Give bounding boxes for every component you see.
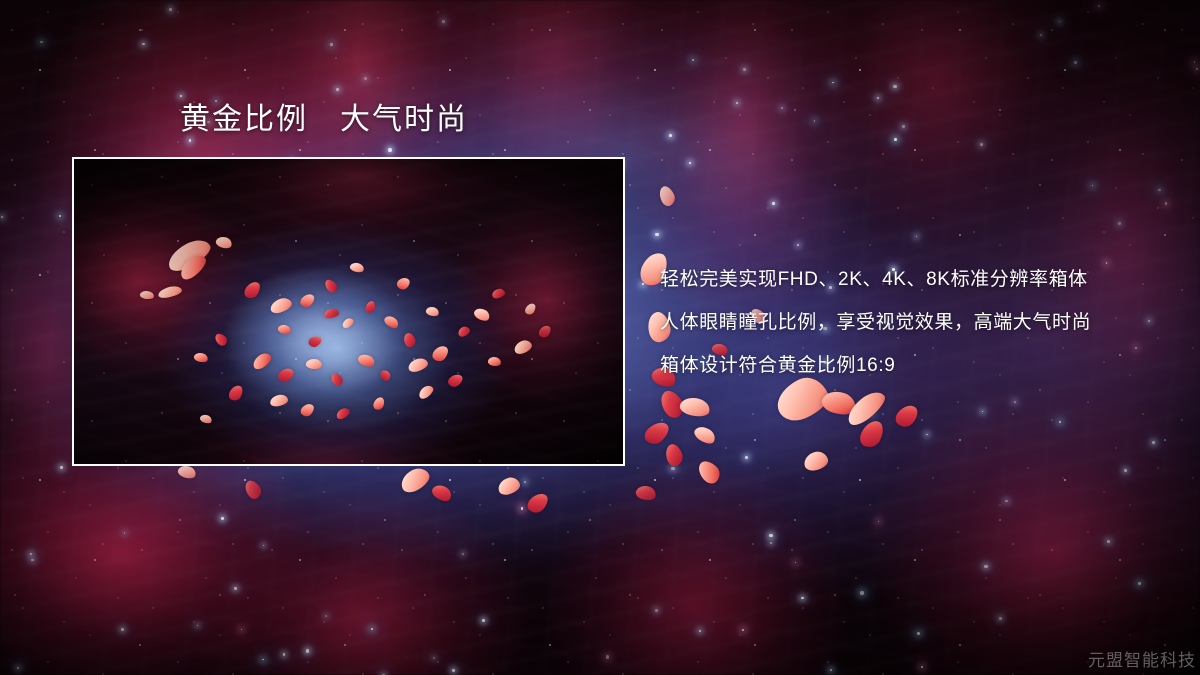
star-point	[31, 559, 34, 562]
star-point	[371, 628, 373, 630]
star-point	[999, 617, 1002, 620]
star-point	[655, 609, 658, 612]
star-point	[1196, 68, 1198, 70]
star-point	[180, 95, 182, 97]
star-point	[655, 233, 658, 236]
star-point	[30, 553, 32, 555]
flower-petal	[641, 418, 672, 449]
flower-petal	[802, 450, 829, 473]
star-point	[197, 625, 198, 626]
star-point	[262, 659, 263, 660]
star-point	[982, 411, 983, 412]
watermark: 元盟智能科技	[1088, 646, 1196, 671]
star-point	[984, 565, 987, 568]
star-point	[642, 283, 644, 285]
body-line: 人体眼睛瞳孔比例，享受视觉效果，高端大气时尚	[660, 301, 1180, 344]
star-point	[482, 619, 485, 622]
framed-photo-inner	[74, 159, 623, 464]
flower-petal	[678, 395, 711, 420]
flower-petal	[819, 387, 858, 418]
star-point	[524, 481, 526, 483]
star-point	[745, 456, 748, 459]
star-point	[1165, 202, 1168, 205]
star-point	[330, 43, 333, 46]
star-point	[781, 107, 783, 109]
body-line: 箱体设计符合黄金比例16:9	[660, 344, 1180, 387]
star-point	[1, 216, 3, 218]
flower-petal	[397, 464, 433, 496]
flower-petal	[663, 442, 686, 468]
star-point	[1107, 540, 1110, 543]
star-point	[234, 587, 237, 590]
star-point	[189, 139, 191, 141]
star-point	[926, 434, 928, 436]
star-point	[801, 597, 803, 599]
star-point	[795, 562, 796, 563]
star-point	[59, 215, 61, 217]
star-point	[671, 467, 674, 470]
flower-petal	[694, 457, 724, 487]
star-point	[797, 244, 799, 246]
star-point	[770, 542, 772, 544]
star-point	[921, 666, 923, 668]
star-point	[283, 653, 286, 656]
star-point	[692, 59, 694, 61]
star-point	[916, 236, 917, 237]
star-point	[669, 134, 672, 137]
star-point	[60, 466, 63, 469]
star-point	[652, 278, 655, 281]
star-point	[917, 632, 920, 635]
star-point	[1152, 441, 1155, 444]
star-point	[221, 517, 223, 519]
star-point	[1040, 34, 1042, 36]
star-point	[1124, 469, 1127, 472]
star-point	[124, 532, 125, 533]
body-line: 轻松完美实现FHD、2K、4K、8K标准分辨率箱体	[660, 258, 1180, 301]
star-point	[980, 143, 983, 146]
star-point	[1118, 222, 1121, 225]
star-point	[433, 657, 435, 659]
star-point	[40, 41, 43, 44]
framed-photo-vignette	[74, 159, 623, 464]
star-point	[442, 20, 445, 23]
star-point	[364, 77, 367, 80]
star-point	[743, 68, 745, 70]
star-point	[1138, 582, 1141, 585]
flower-petal	[843, 387, 890, 430]
flower-petal	[656, 184, 677, 208]
star-point	[894, 138, 897, 141]
star-point	[814, 120, 816, 122]
star-point	[17, 667, 19, 669]
flower-petal	[857, 417, 887, 451]
star-point	[1098, 5, 1100, 7]
star-point	[306, 649, 309, 652]
star-point	[902, 125, 905, 128]
star-point	[689, 162, 691, 164]
star-point	[893, 85, 897, 89]
star-point	[830, 669, 832, 671]
body-text-block: 轻松完美实现FHD、2K、4K、8K标准分辨率箱体 人体眼睛瞳孔比例，享受视觉效…	[660, 258, 1180, 387]
flower-petal	[634, 484, 657, 503]
star-point	[1005, 500, 1008, 503]
star-point	[1074, 61, 1077, 64]
flower-petal	[656, 387, 688, 421]
star-point	[388, 148, 392, 152]
flower-petal	[430, 482, 454, 505]
star-point	[169, 8, 172, 11]
star-point	[452, 669, 455, 672]
star-point	[263, 545, 264, 546]
star-point	[142, 43, 144, 45]
star-point	[462, 553, 465, 556]
flower-petal	[892, 401, 921, 431]
star-point	[860, 591, 863, 594]
star-point	[736, 102, 738, 104]
star-point	[1059, 421, 1061, 423]
star-point	[1014, 401, 1016, 403]
star-point	[871, 414, 872, 415]
flower-petal	[525, 490, 552, 517]
star-point	[769, 534, 773, 538]
star-point	[699, 630, 701, 632]
flower-petal	[692, 423, 718, 447]
flower-petal	[242, 478, 264, 502]
star-point	[336, 88, 339, 91]
flower-petal	[496, 475, 522, 496]
framed-photo	[72, 157, 625, 466]
star-point	[1059, 21, 1060, 22]
star-point	[1092, 185, 1093, 186]
star-point	[241, 629, 242, 630]
star-point	[521, 507, 524, 510]
star-point	[121, 628, 124, 631]
star-point	[878, 521, 879, 522]
star-point	[1158, 189, 1161, 192]
star-point	[832, 82, 834, 84]
star-point	[606, 655, 610, 659]
star-point	[772, 202, 775, 205]
star-point	[1194, 61, 1195, 62]
presentation-slide: 黄金比例 大气时尚 轻松完美实现FHD、2K、4K、8K标准分辨率箱体 人体眼睛…	[0, 0, 1200, 675]
star-point	[877, 97, 879, 99]
star-point	[742, 629, 744, 631]
page-title: 黄金比例 大气时尚	[180, 101, 468, 139]
star-point	[325, 615, 328, 618]
